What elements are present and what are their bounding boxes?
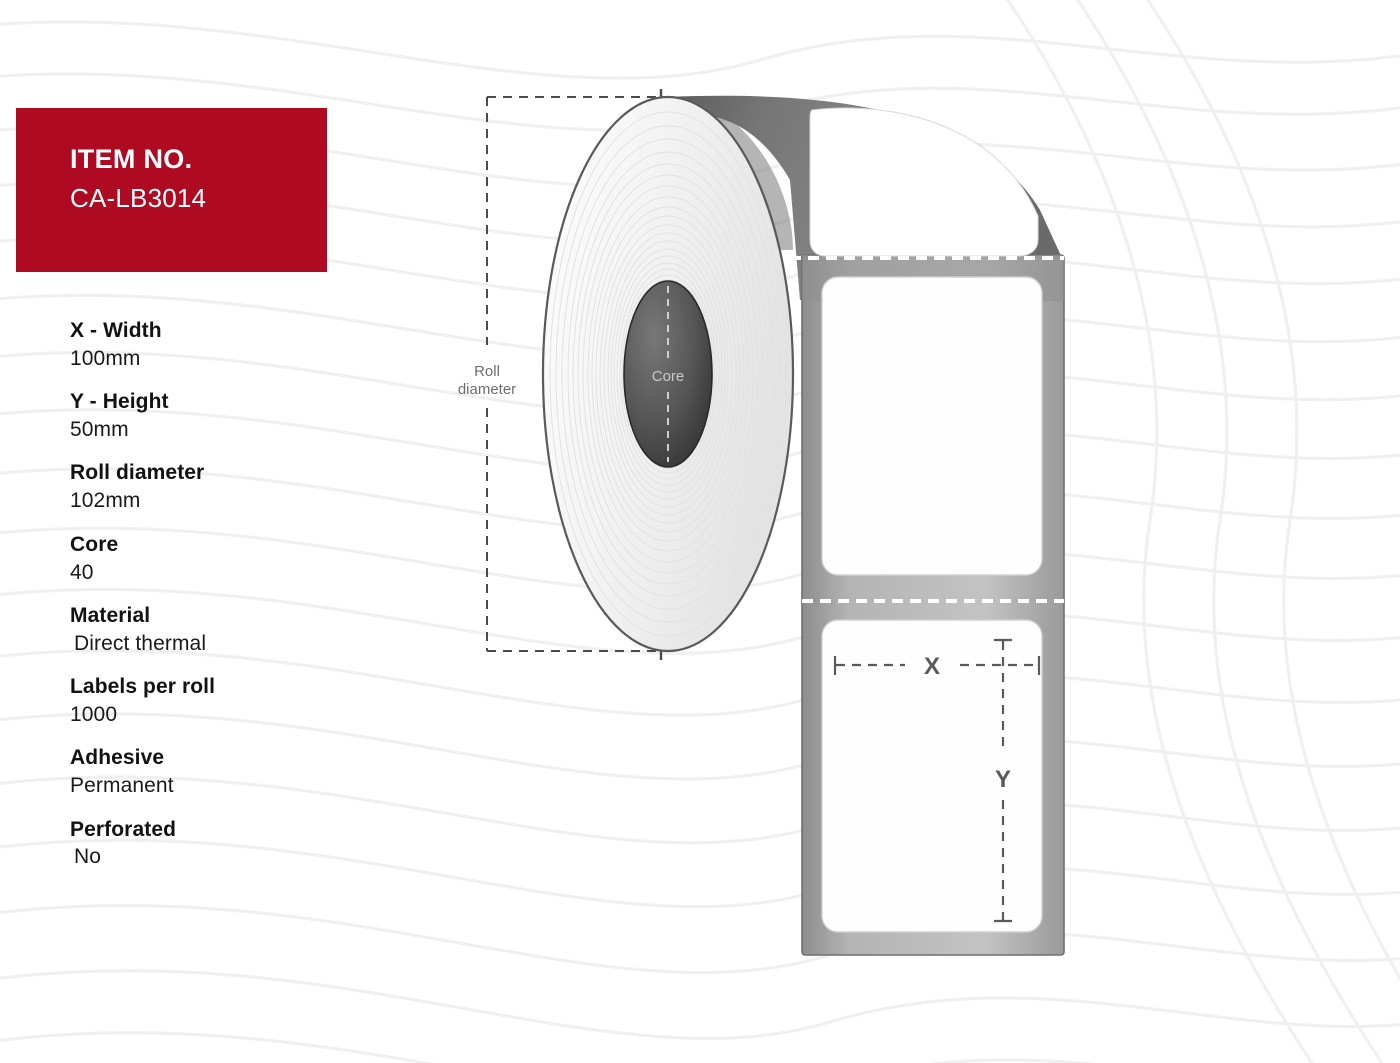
spec-value-perforated: No (70, 843, 370, 871)
spec-label-roll-diameter: Roll diameter (70, 460, 370, 487)
spec-value-material: Direct thermal (70, 630, 370, 658)
core-label: Core (652, 368, 685, 385)
spec-label-perforated: Perforated (70, 817, 370, 844)
spec-label-adhesive: Adhesive (70, 745, 370, 772)
roll-diameter-label-line2: diameter (458, 381, 516, 398)
spec-label-material: Material (70, 603, 370, 630)
x-dimension-label: X (924, 653, 940, 680)
spec-label-labels-per-roll: Labels per roll (70, 674, 370, 701)
spec-row-material: Material Direct thermal (70, 603, 370, 658)
spec-row-height: Y - Height 50mm (70, 389, 370, 444)
spec-value-core: 40 (70, 559, 370, 587)
spec-row-adhesive: Adhesive Permanent (70, 745, 370, 800)
item-number-banner: ITEM NO. CA-LB3014 (16, 108, 327, 272)
item-number-title: ITEM NO. (70, 146, 327, 173)
spec-row-perforated: Perforated No (70, 817, 370, 872)
spec-row-roll-diameter: Roll diameter 102mm (70, 460, 370, 515)
spec-value-width: 100mm (70, 345, 370, 373)
roll-diameter-label-line1: Roll (474, 363, 500, 380)
spec-label-core: Core (70, 532, 370, 559)
spec-row-width: X - Width 100mm (70, 318, 370, 373)
spec-row-core: Core 40 (70, 532, 370, 587)
spec-label-width: X - Width (70, 318, 370, 345)
y-dimension-label: Y (995, 766, 1011, 793)
label-face-middle (822, 277, 1042, 575)
spec-row-labels-per-roll: Labels per roll 1000 (70, 674, 370, 729)
spec-value-roll-diameter: 102mm (70, 487, 370, 515)
product-spec-sheet: ITEM NO. CA-LB3014 X - Width 100mm Y - H… (0, 0, 1400, 1063)
item-number-code: CA-LB3014 (70, 185, 327, 211)
spec-value-height: 50mm (70, 416, 370, 444)
spec-value-labels-per-roll: 1000 (70, 701, 370, 729)
spec-label-height: Y - Height (70, 389, 370, 416)
specification-list: X - Width 100mm Y - Height 50mm Roll dia… (70, 318, 370, 888)
label-face-top (810, 108, 1038, 256)
spec-value-adhesive: Permanent (70, 772, 370, 800)
